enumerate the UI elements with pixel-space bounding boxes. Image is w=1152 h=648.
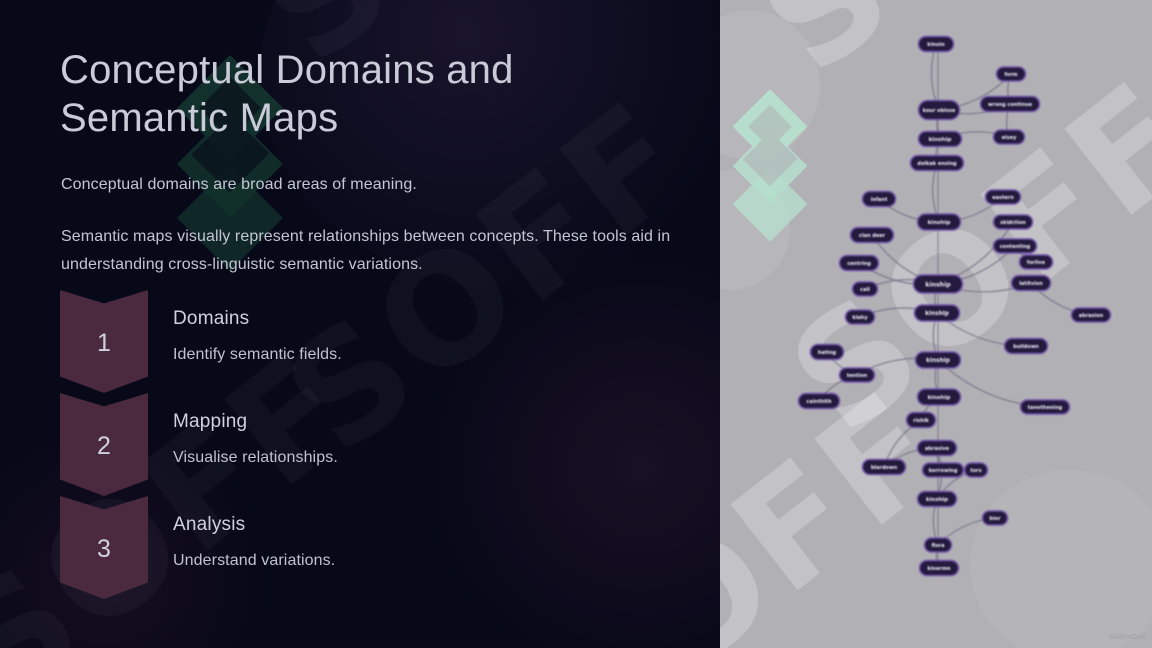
graph-node: tors [964, 462, 989, 478]
graph-node: kinsin [918, 36, 955, 53]
step-text-2: Mapping Visualise relationships. [173, 411, 338, 467]
step-title: Analysis [173, 514, 335, 536]
step-item-1[interactable]: 1 Domains Identify semantic fields. [60, 290, 680, 393]
graph-node-label: kinship [925, 282, 951, 289]
semantic-map-image-panel: SOFF SOFF SOFF kinsinformkour obissewron… [720, 0, 1152, 648]
graph-node-label: cainthith [806, 399, 832, 405]
graph-node-label: contenting [1000, 244, 1031, 250]
graph-node-label: klahy [852, 315, 868, 321]
graph-node-label: kinship [925, 311, 949, 317]
slide: SOFF SOFF SOFF Conceptual Domains and Se… [0, 0, 1152, 648]
graph-node: kinship [914, 304, 961, 322]
graph-node: wrong continue [980, 96, 1041, 113]
chevron-badge-1: 1 [60, 290, 148, 393]
graph-node-label: kinship [929, 137, 952, 143]
graph-node: centring [839, 255, 880, 272]
chevron-badge-2: 2 [60, 393, 148, 496]
graph-node-label: flora [932, 543, 945, 549]
graph-node: contenting [993, 238, 1038, 254]
graph-nodes-group: kinsinformkour obissewrong continuekinsh… [798, 36, 1112, 577]
graph-node-label: abrasive [925, 446, 950, 452]
step-number: 1 [97, 327, 111, 356]
graph-node-label: forlive [1027, 260, 1046, 266]
page-title: Conceptual Domains and Semantic Maps [60, 46, 680, 142]
graph-node-label: kinship [926, 497, 948, 503]
graph-node: forlive [1019, 254, 1054, 270]
graph-node-label: kinship [926, 358, 950, 364]
step-title: Mapping [173, 411, 338, 433]
step-description: Understand variations. [173, 552, 335, 570]
step-item-2[interactable]: 2 Mapping Visualise relationships. [60, 393, 680, 496]
left-content-panel: SOFF SOFF SOFF Conceptual Domains and Se… [0, 0, 720, 648]
graph-node: kinship [917, 491, 958, 508]
graph-node: bior [982, 510, 1009, 526]
step-number: 2 [97, 430, 111, 459]
graph-node-label: kinermn [927, 566, 951, 572]
graph-node: eastern [985, 189, 1022, 205]
step-text-3: Analysis Understand variations. [173, 514, 335, 570]
graph-node-label: buildown [1013, 344, 1039, 350]
graph-node: klahy [845, 309, 876, 325]
graph-node-label: tention [847, 373, 868, 379]
graph-node: kinship [917, 213, 962, 231]
graph-node: infant [862, 191, 897, 208]
graph-node: skidction [993, 214, 1034, 230]
graph-node: borrowing [922, 462, 965, 478]
step-description: Identify semantic fields. [173, 346, 342, 364]
graph-node: abrasion [1071, 307, 1112, 323]
graph-node: abrasive [917, 440, 958, 457]
graph-node: kinship [913, 274, 964, 294]
graph-node-label: wrong continue [988, 102, 1033, 108]
graph-node: kinship [915, 351, 962, 369]
step-item-3[interactable]: 3 Analysis Understand variations. [60, 496, 680, 599]
steps-list: 1 Domains Identify semantic fields. 2 Ma… [60, 290, 680, 599]
graph-node-label: call [860, 287, 870, 293]
intro-paragraph-2: Semantic maps visually represent relatio… [61, 223, 701, 279]
graph-node: tanothening [1020, 399, 1071, 415]
graph-node-label: bior [989, 516, 1001, 522]
graph-node: rishik [906, 412, 937, 429]
intro-paragraph-1: Conceptual domains are broad areas of me… [61, 176, 417, 194]
graph-node: blardown [862, 459, 907, 476]
graph-node-label: hating [818, 350, 837, 356]
graph-node-label: dolkak ensing [917, 161, 957, 167]
graph-node: latitvion [1011, 275, 1052, 292]
graph-node: cainthith [798, 393, 841, 410]
graph-node-label: tanothening [1028, 405, 1063, 411]
graph-node-label: form [1004, 72, 1017, 78]
graph-node-label: eastern [992, 195, 1014, 201]
graph-node-label: infant [871, 197, 888, 203]
chevron-badge-3: 3 [60, 496, 148, 599]
graph-node-label: kinsin [927, 42, 945, 48]
graph-node: hating [810, 344, 845, 361]
graph-node: kinship [918, 131, 963, 148]
graph-node-label: centring [847, 261, 871, 267]
step-text-1: Domains Identify semantic fields. [173, 308, 342, 364]
graph-node: kinermn [919, 560, 960, 577]
graph-node-label: tors [970, 468, 981, 474]
graph-node: dolkak ensing [910, 155, 965, 172]
graph-node-label: clan deer [859, 233, 886, 239]
graph-node: elsey [993, 129, 1026, 145]
graph-node-label: elsey [1002, 135, 1017, 141]
graph-node-label: kinship [928, 395, 951, 401]
graph-node-label: latitvion [1019, 281, 1043, 287]
graph-node: tention [839, 367, 876, 383]
graph-node-label: skidction [1000, 220, 1026, 226]
graph-node: form [996, 66, 1027, 82]
graph-node: kour obisse [918, 100, 961, 121]
graph-node: buildown [1004, 338, 1049, 355]
graph-node-label: abrasion [1079, 313, 1104, 319]
semantic-map-graph: kinsinformkour obissewrong continuekinsh… [720, 0, 1152, 648]
step-number: 3 [97, 533, 111, 562]
step-title: Domains [173, 308, 342, 330]
graph-node-label: kinship [928, 220, 951, 226]
graph-node-label: borrowing [929, 468, 958, 474]
graph-node: call [852, 281, 879, 297]
graph-node-label: blardown [871, 465, 898, 471]
graph-node-label: rishik [913, 418, 929, 424]
graph-node: clan deer [850, 227, 895, 244]
graph-node: kinship [917, 388, 962, 406]
graph-node: flora [924, 537, 953, 553]
graph-node-label: kour obisse [923, 108, 956, 114]
step-description: Visualise relationships. [173, 449, 338, 467]
